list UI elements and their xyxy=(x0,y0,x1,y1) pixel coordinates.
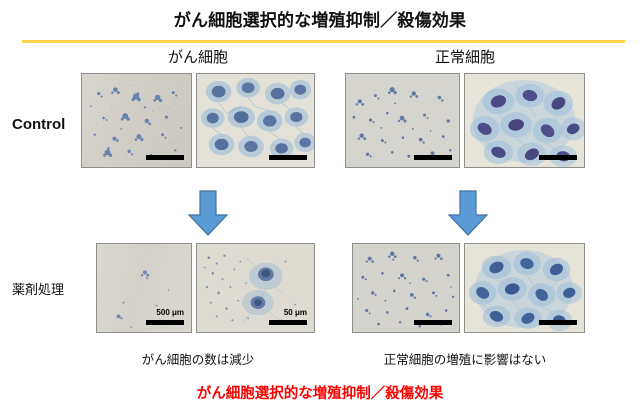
micrograph-cancer-treated-low-mag: 500 μm xyxy=(96,243,192,333)
micrograph-canvas xyxy=(197,74,314,167)
scale-bar xyxy=(414,320,452,325)
micrograph-normal-control-low-mag xyxy=(345,73,460,168)
micrograph-canvas xyxy=(465,74,584,167)
column-header-cancer-cells: がん細胞 xyxy=(81,46,315,67)
micrograph-cancer-treated-high-mag: 50 μm xyxy=(196,243,315,333)
page-title: がん細胞選択的な増殖抑制／殺傷効果 xyxy=(0,6,640,31)
micrograph-canvas xyxy=(465,244,584,332)
conclusion-text: がん細胞選択的な増殖抑制／殺傷効果 xyxy=(0,382,640,403)
scale-bar xyxy=(539,320,577,325)
scale-bar xyxy=(414,155,452,160)
micrograph-normal-control-high-mag xyxy=(464,73,585,168)
down-arrow-icon xyxy=(186,189,230,237)
micrograph-canvas xyxy=(197,244,314,332)
micrograph-canvas xyxy=(353,244,459,332)
scale-bar xyxy=(269,155,307,160)
scale-bar xyxy=(146,155,184,160)
treatment-arrow-normal xyxy=(446,189,490,237)
micrograph-normal-treated-high-mag xyxy=(464,243,585,333)
row-label-control: Control xyxy=(12,116,65,133)
scale-bar xyxy=(146,320,184,325)
treatment-arrow-cancer xyxy=(186,189,230,237)
scale-bar xyxy=(269,320,307,325)
caption-normal-result: 正常細胞の増殖に影響はない xyxy=(345,349,585,368)
column-header-normal-cells: 正常細胞 xyxy=(345,46,585,67)
micrograph-canvas xyxy=(97,244,191,332)
down-arrow-icon xyxy=(446,189,490,237)
caption-cancer-result: がん細胞の数は減少 xyxy=(81,349,315,368)
scale-bar-label: 500 μm xyxy=(156,308,184,318)
scale-bar xyxy=(539,155,577,160)
scale-bar-label: 50 μm xyxy=(284,308,307,318)
micrograph-canvas xyxy=(82,74,191,167)
row-label-drug-treated: 薬剤処理 xyxy=(12,279,64,298)
micrograph-cancer-control-high-mag xyxy=(196,73,315,168)
micrograph-canvas xyxy=(346,74,459,167)
micrograph-normal-treated-low-mag xyxy=(352,243,460,333)
title-divider xyxy=(22,40,625,43)
micrograph-cancer-control-low-mag xyxy=(81,73,192,168)
